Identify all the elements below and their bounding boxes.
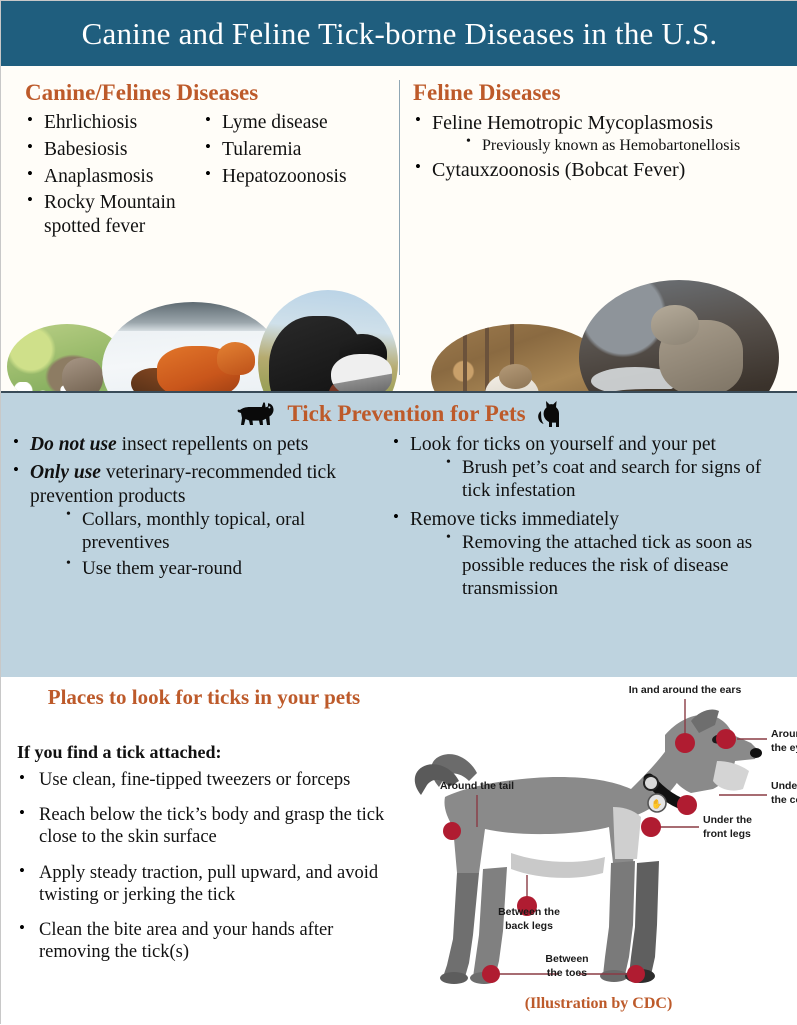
places-to-look-section: Places to look for ticks in your pets If… <box>1 677 797 1025</box>
svg-text:✋: ✋ <box>651 798 662 809</box>
sub-list-item: Use them year-round <box>66 558 391 581</box>
feline-list: Feline Hemotropic Mycoplasmosis Previous… <box>413 111 788 182</box>
diseases-section: Canine/Felines Diseases Ehrlichiosis Bab… <box>1 66 797 391</box>
label-collar-line1: Under <box>771 780 797 792</box>
list-item-label: Look for ticks on yourself and your pet <box>410 434 716 455</box>
list-item: Hepatozoonosis <box>203 165 393 189</box>
label-toes-line2: the toes <box>547 967 587 979</box>
canine-feline-list-column-1: Ehrlichiosis Babesiosis Anaplasmosis Roc… <box>25 111 203 239</box>
marker-toes-front <box>627 965 645 983</box>
sub-list-item: Brush pet’s coat and search for signs of… <box>446 457 786 503</box>
places-subtitle: If you find a tick attached: <box>17 742 222 763</box>
list-item: Do not use insect repellents on pets <box>11 433 391 456</box>
sub-list: Collars, monthly topical, oral preventiv… <box>30 509 391 580</box>
label-ears: In and around the ears <box>629 684 742 696</box>
sub-list-item: Collars, monthly topical, oral preventiv… <box>66 509 391 555</box>
list-item-label: insect repellents on pets <box>117 434 309 455</box>
label-tail: Around the tail <box>440 780 514 792</box>
places-title: Places to look for ticks in your pets <box>19 685 389 709</box>
label-toes-line1: Between <box>545 953 588 965</box>
list-item: Babesiosis <box>25 138 203 162</box>
list-item: Ehrlichiosis <box>25 111 203 135</box>
marker-tail <box>443 822 461 840</box>
canine-feline-diseases-block: Canine/Felines Diseases Ehrlichiosis Bab… <box>25 80 395 242</box>
marker-toes-back <box>482 965 500 983</box>
canine-feline-list-column-2: Lyme disease Tularemia Hepatozoonosis <box>203 111 393 188</box>
label-back-legs-line2: back legs <box>505 920 553 932</box>
list-item: Reach below the tick’s body and grasp th… <box>17 804 395 848</box>
list-item-label: Feline Hemotropic Mycoplasmosis <box>432 112 713 134</box>
marker-collar <box>677 795 697 815</box>
dog-illustration: ✋ <box>415 709 762 984</box>
list-item: Clean the bite area and your hands after… <box>17 919 395 963</box>
list-item: Tularemia <box>203 138 393 162</box>
list-item: Lyme disease <box>203 111 393 135</box>
label-eyelids-line1: Around <box>771 728 797 740</box>
cat-silhouette-icon <box>536 399 562 429</box>
list-item: Remove ticks immediately Removing the at… <box>391 508 786 601</box>
tick-prevention-columns: Do not use insect repellents on pets Onl… <box>1 433 797 606</box>
emphasis-text: Only use <box>30 462 101 483</box>
sub-list: Brush pet’s coat and search for signs of… <box>410 457 786 503</box>
marker-ears <box>675 733 695 753</box>
sub-list: Removing the attached tick as soon as po… <box>410 532 786 600</box>
feline-heading: Feline Diseases <box>413 80 788 106</box>
list-item: Anaplasmosis <box>25 165 203 189</box>
marker-eyelids <box>716 729 736 749</box>
page-header-banner: Canine and Feline Tick-borne Diseases in… <box>1 1 797 66</box>
canine-feline-heading: Canine/Felines Diseases <box>25 80 395 106</box>
list-item: Only use veterinary-recommended tick pre… <box>11 461 391 580</box>
infographic-page: Canine and Feline Tick-borne Diseases in… <box>0 0 797 1024</box>
list-item: Look for ticks on yourself and your pet … <box>391 433 786 503</box>
tick-prevention-heading: Tick Prevention for Pets <box>287 401 525 427</box>
list-item: Use clean, fine-tipped tweezers or force… <box>17 769 395 791</box>
list-item: Cytauxzoonosis (Bobcat Fever) <box>413 158 788 182</box>
column-divider <box>399 80 400 375</box>
marker-front-legs <box>641 817 661 837</box>
label-front-legs-line2: front legs <box>703 828 751 840</box>
list-item: Rocky Mountain spotted fever <box>25 191 203 239</box>
emphasis-text: Do not use <box>30 434 117 455</box>
label-back-legs-line1: Between the <box>498 906 560 918</box>
dog-silhouette-icon <box>237 401 277 427</box>
list-item-label: Remove ticks immediately <box>410 509 619 530</box>
tick-prevention-section: Tick Prevention for Pets Do not use inse… <box>1 391 797 677</box>
bobcat-on-log-photo <box>579 280 779 391</box>
list-item: Apply steady traction, pull upward, and … <box>17 862 395 906</box>
list-item: Feline Hemotropic Mycoplasmosis Previous… <box>413 111 788 156</box>
prevention-left-list: Do not use insect repellents on pets Onl… <box>11 433 391 581</box>
cdc-illustration-credit: (Illustration by CDC) <box>399 995 797 1013</box>
sub-list-item: Removing the attached tick as soon as po… <box>446 532 786 600</box>
label-eyelids-line2: the eyelids <box>771 742 797 754</box>
tick-removal-steps-list: Use clean, fine-tipped tweezers or force… <box>17 769 395 963</box>
prevention-right-list: Look for ticks on yourself and your pet … <box>391 433 786 601</box>
label-front-legs-line1: Under the <box>703 814 752 826</box>
feline-diseases-block: Feline Diseases Feline Hemotropic Mycopl… <box>413 80 788 184</box>
dog-tick-locations-diagram: ✋ <box>399 677 797 1025</box>
label-collar-line2: the collar <box>771 794 797 806</box>
sub-list-item: Previously known as Hemobartonellosis <box>466 136 788 155</box>
page-title: Canine and Feline Tick-borne Diseases in… <box>82 16 718 52</box>
sub-list: Previously known as Hemobartonellosis <box>432 136 788 155</box>
tick-prevention-header-row: Tick Prevention for Pets <box>1 395 797 433</box>
red-fox-in-snow-photo <box>102 302 284 391</box>
